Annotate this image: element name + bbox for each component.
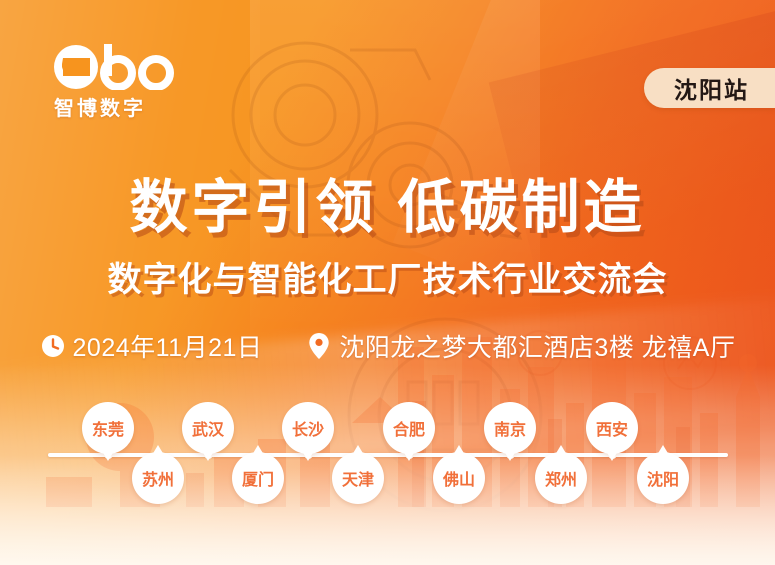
timeline-city-label: 沈阳: [647, 466, 679, 490]
page-subtitle: 数字化与智能化工厂技术行业交流会: [0, 252, 775, 301]
timeline-city-label: 佛山: [443, 466, 475, 490]
timeline-city-bubble[interactable]: 佛山: [433, 452, 485, 504]
timeline-city-label: 南京: [494, 416, 526, 440]
timeline-city-label: 合肥: [393, 416, 425, 440]
clock-icon: [40, 333, 66, 359]
timeline-city-bubble[interactable]: 合肥: [383, 402, 435, 454]
timeline-city-label: 西安: [596, 416, 628, 440]
timeline-city-bubble[interactable]: 长沙: [282, 402, 334, 454]
timeline-city-bubble[interactable]: 天津: [332, 452, 384, 504]
station-badge[interactable]: 沈阳站: [644, 68, 775, 108]
timeline-city-label: 天津: [342, 466, 374, 490]
map-pin-icon: [306, 332, 332, 360]
event-poster: 智博数字 沈阳站 数字引领 低碳制造 数字化与智能化工厂技术行业交流会 2024…: [0, 0, 775, 565]
timeline-city-label: 苏州: [142, 466, 174, 490]
logo-mark: [52, 44, 202, 90]
timeline-city-bubble[interactable]: 东莞: [82, 402, 134, 454]
timeline-city-label: 东莞: [92, 416, 124, 440]
timeline-city-bubble[interactable]: 南京: [484, 402, 536, 454]
timeline-city-bubble[interactable]: 郑州: [535, 452, 587, 504]
event-meta-row: 2024年11月21日 沈阳龙之梦大都汇酒店3楼 龙禧A厅: [0, 328, 775, 364]
timeline-city-label: 厦门: [242, 466, 274, 490]
event-date: 2024年11月21日: [40, 328, 263, 364]
event-location-text: 沈阳龙之梦大都汇酒店3楼 龙禧A厅: [339, 328, 735, 364]
logo-subtitle: 智博数字: [54, 92, 202, 121]
timeline-city-label: 郑州: [545, 466, 577, 490]
brand-logo[interactable]: 智博数字: [52, 44, 202, 121]
event-date-text: 2024年11月21日: [73, 328, 263, 364]
timeline-city-label: 武汉: [192, 416, 224, 440]
z-circle-logo-icon: [52, 44, 202, 90]
timeline-city-bubble[interactable]: 武汉: [182, 402, 234, 454]
event-location: 沈阳龙之梦大都汇酒店3楼 龙禧A厅: [306, 328, 735, 364]
timeline-city-bubble[interactable]: 西安: [586, 402, 638, 454]
timeline-city-bubble[interactable]: 苏州: [132, 452, 184, 504]
city-tour-timeline: 东莞苏州武汉厦门长沙天津合肥佛山南京郑州西安沈阳: [0, 400, 775, 510]
timeline-city-bubble[interactable]: 厦门: [232, 452, 284, 504]
timeline-city-label: 长沙: [292, 416, 324, 440]
page-title: 数字引领 低碳制造: [0, 160, 775, 244]
station-badge-label: 沈阳站: [674, 71, 749, 105]
timeline-city-bubble[interactable]: 沈阳: [637, 452, 689, 504]
